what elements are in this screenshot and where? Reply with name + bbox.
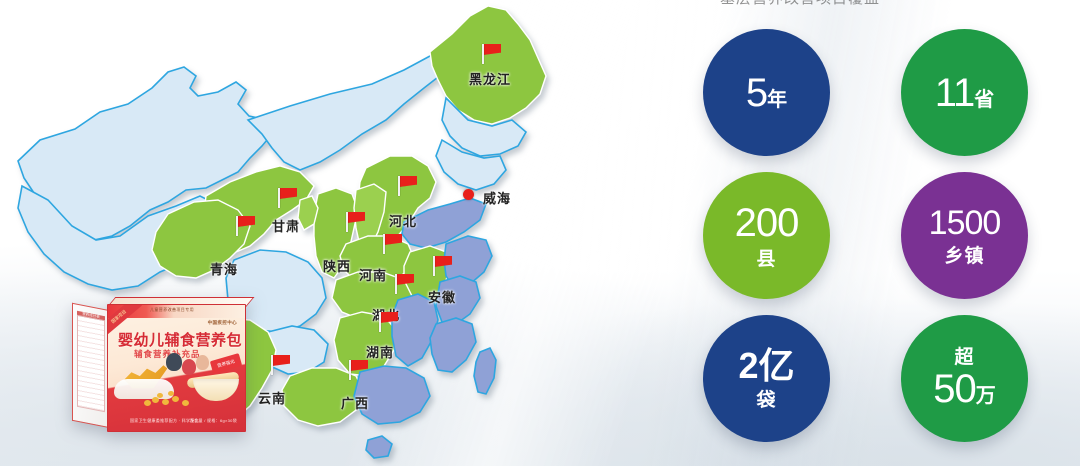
stat-townships-number: 1500 bbox=[929, 206, 1001, 240]
stat-packets-unit: 袋 bbox=[756, 391, 776, 410]
flag-marker-gansu bbox=[277, 188, 299, 208]
map-label-hebei: 河北 bbox=[389, 211, 417, 230]
map-label-heilongjiang: 黑龙江 bbox=[469, 69, 511, 88]
package-brand: 中国疾控中心 bbox=[208, 320, 237, 326]
stat-children-value: 50万 bbox=[933, 369, 996, 409]
city-marker-dot-weihai bbox=[463, 189, 474, 200]
map-label-weihai: 威海 bbox=[483, 188, 511, 207]
flag-marker-anhui bbox=[432, 256, 454, 276]
flag-marker-henan bbox=[382, 234, 404, 254]
package-bottom-band: 国家卫生健康委推荐配方 · 科学配比 净含量 / 规格：6g×30袋 bbox=[108, 407, 245, 431]
child-illustration-2 bbox=[182, 359, 196, 375]
package-top-line: 儿童营养改善项目专用 bbox=[150, 307, 194, 313]
stat-children-prefix: 超 bbox=[954, 348, 974, 367]
flag-marker-hebei bbox=[397, 176, 419, 196]
flag-marker-shaanxi bbox=[345, 212, 367, 232]
map-label-hunan: 湖南 bbox=[366, 342, 394, 361]
stat-packets-number: 2亿 bbox=[738, 348, 794, 384]
milk-splash-icon bbox=[114, 379, 174, 399]
stat-years-number: 5 bbox=[746, 71, 767, 115]
package-bottom-right-text: 净含量 / 规格：6g×30袋 bbox=[190, 418, 237, 424]
map-label-yunnan: 云南 bbox=[258, 388, 286, 407]
stat-circle-packets[interactable]: 2亿 袋 bbox=[703, 315, 830, 442]
child-illustration-3 bbox=[196, 355, 209, 370]
map-label-anhui: 安徽 bbox=[428, 287, 456, 306]
stat-children-number: 50 bbox=[933, 367, 976, 411]
top-caption: 基层营养改善项目覆盖 bbox=[640, 0, 960, 5]
stat-provinces-number: 11 bbox=[935, 71, 975, 115]
province-inner-mongolia bbox=[248, 48, 456, 170]
stat-townships-unit: 乡镇 bbox=[944, 247, 984, 266]
package-bottom-left-text: 国家卫生健康委推荐配方 · 科学配比 bbox=[130, 418, 199, 424]
map-label-qinghai: 青海 bbox=[210, 259, 238, 278]
stat-children-unit: 万 bbox=[976, 385, 996, 407]
grain-dot bbox=[152, 397, 159, 403]
stat-counties-unit: 县 bbox=[756, 250, 776, 269]
grain-dot bbox=[144, 400, 151, 406]
stat-provinces-unit: 省 bbox=[974, 89, 994, 111]
stat-counties-number: 200 bbox=[735, 203, 799, 243]
package-title: 婴幼儿辅食营养包 bbox=[118, 329, 239, 350]
flag-marker-guangxi bbox=[348, 360, 370, 380]
map-label-henan: 河南 bbox=[359, 265, 387, 284]
stat-circle-years[interactable]: 5年 bbox=[703, 29, 830, 156]
grain-dot bbox=[172, 396, 179, 402]
flag-marker-yunnan bbox=[270, 355, 292, 375]
bowl-icon bbox=[193, 379, 239, 401]
flag-marker-qinghai bbox=[235, 216, 257, 236]
stat-provinces-value: 11省 bbox=[935, 73, 995, 113]
grain-dot bbox=[168, 391, 174, 396]
province-fujian bbox=[430, 318, 476, 372]
grain-dot bbox=[162, 399, 169, 405]
package-artwork bbox=[108, 349, 245, 407]
product-package-image: 营养成分表 儿童营养改善项目专用 国家项目 中国疾控中心 婴幼儿辅食营养包 辅食… bbox=[72, 304, 244, 430]
slide-canvas: 基层营养改善项目覆盖 bbox=[0, 0, 1080, 466]
map-label-shaanxi: 陕西 bbox=[323, 256, 351, 275]
flag-marker-heilongjiang bbox=[481, 44, 503, 64]
province-hainan bbox=[366, 436, 392, 458]
flag-marker-hubei bbox=[394, 274, 416, 294]
stat-circle-townships[interactable]: 1500 乡镇 bbox=[901, 172, 1028, 299]
stat-years-unit: 年 bbox=[767, 89, 787, 111]
flag-marker-hunan bbox=[378, 312, 400, 332]
stat-circle-children[interactable]: 超 50万 bbox=[901, 315, 1028, 442]
province-taiwan bbox=[474, 348, 496, 394]
package-side-face: 营养成分表 bbox=[72, 303, 109, 428]
grain-dot bbox=[182, 400, 189, 406]
stat-circle-counties[interactable]: 200 县 bbox=[703, 172, 830, 299]
nutrition-table bbox=[77, 315, 105, 412]
package-front-face: 儿童营养改善项目专用 国家项目 中国疾控中心 婴幼儿辅食营养包 辅食营养补充品 … bbox=[107, 304, 246, 432]
child-illustration bbox=[166, 353, 182, 371]
stat-years-value: 5年 bbox=[746, 73, 787, 113]
map-label-gansu: 甘肃 bbox=[272, 216, 300, 235]
map-label-guangxi: 广西 bbox=[341, 393, 369, 412]
grain-dot bbox=[157, 393, 163, 398]
stat-circle-provinces[interactable]: 11省 bbox=[901, 29, 1028, 156]
